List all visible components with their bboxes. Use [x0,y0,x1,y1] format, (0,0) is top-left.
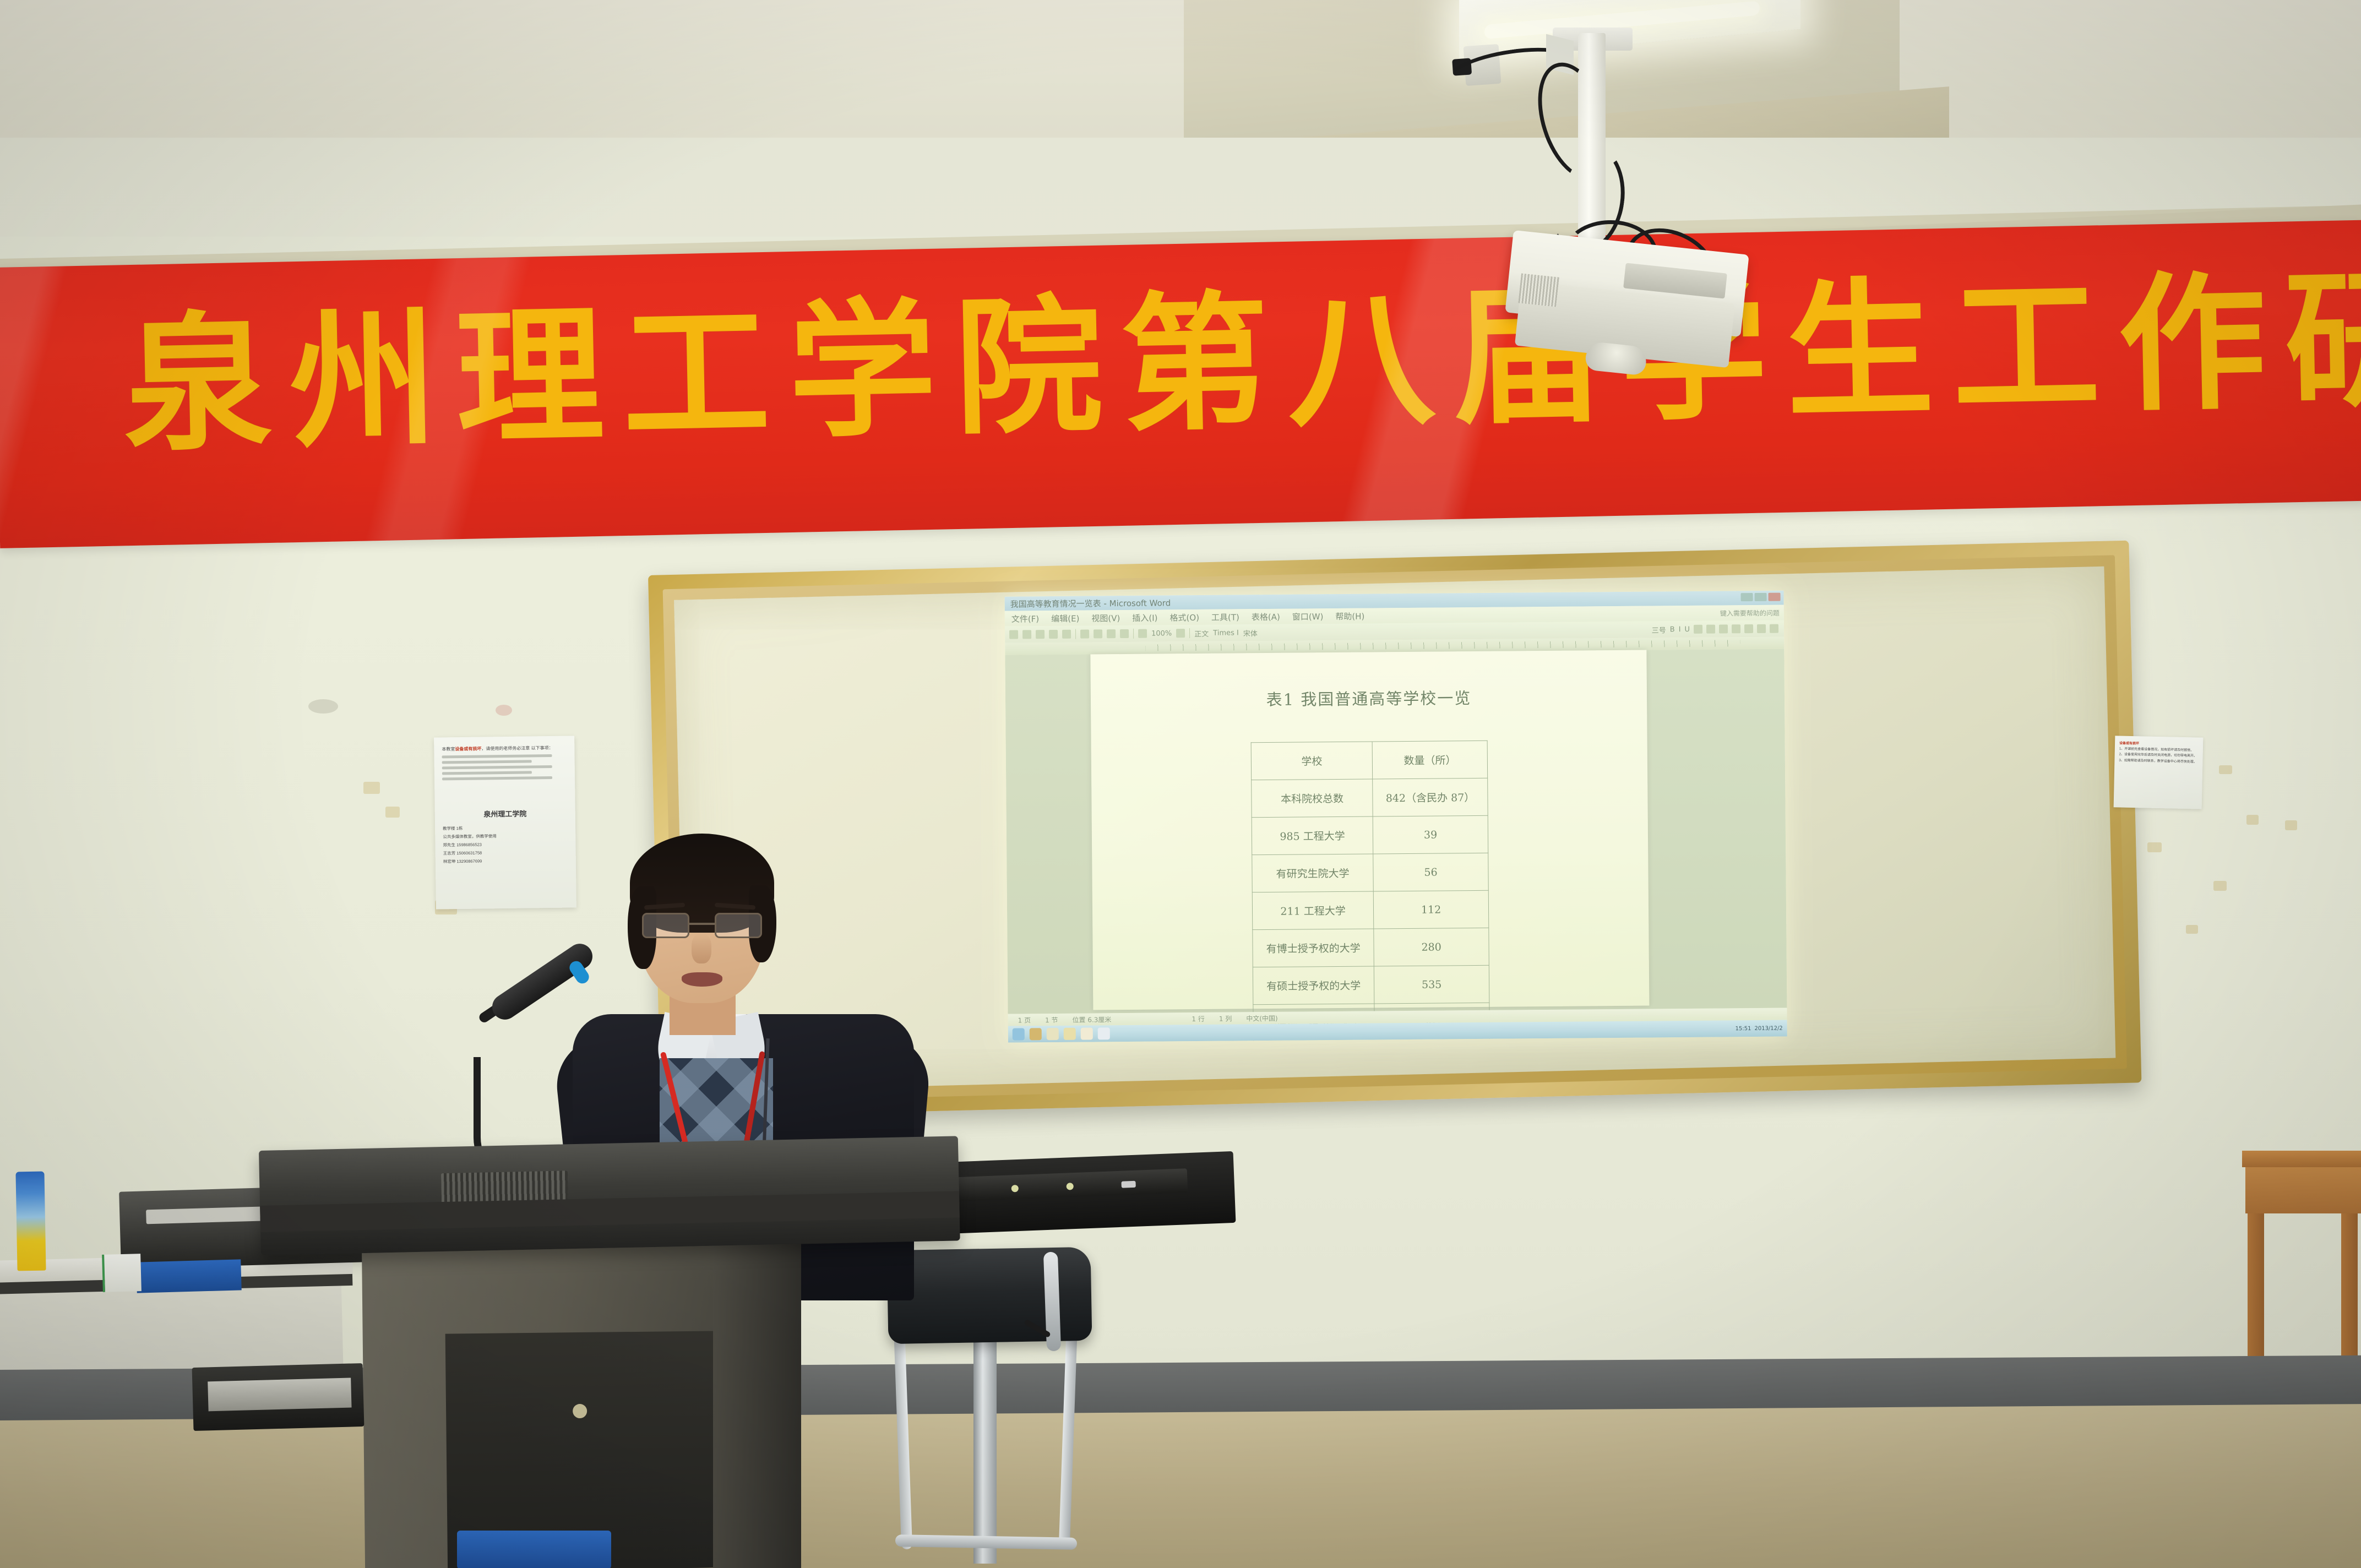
cell-count: 280 [1374,928,1489,966]
paste-icon[interactable] [1120,629,1129,638]
speaker-mouth [682,972,722,987]
speaker-nose [692,934,711,963]
cell-school: 211 工程大学 [1252,891,1374,930]
word-title-text: 我国高等教育情况一览表 - Microsoft Word [1010,597,1171,609]
wall-tape-mark [2213,881,2227,891]
wall-scuff [496,705,512,716]
menu-item-insert[interactable]: 插入(I) [1132,612,1157,623]
cell-count: 39 [1373,815,1488,854]
document-canvas[interactable]: 表1 我国普通高等学校一览 学校 数量（所） 本科院校总数 842（含民办 87… [1005,649,1787,1014]
higher-education-table: 学校 数量（所） 本科院校总数 842（含民办 87） 985 工程大学 39 [1251,741,1490,1043]
poster-text-line [442,765,552,769]
podium-desktop-band [260,1191,960,1232]
cell-school: 有博士授予权的大学 [1253,929,1374,967]
blue-box [136,1259,241,1293]
new-document-icon[interactable] [1009,630,1018,639]
chevron-down-icon[interactable] [1176,629,1185,638]
italic-button[interactable]: I [1679,625,1681,634]
table-row: 有研究生院大学 56 [1252,853,1489,892]
cell-count: 112 [1373,890,1488,929]
spellcheck-icon[interactable] [1080,629,1089,638]
toolbar-separator-3 [1189,628,1190,638]
cut-icon[interactable] [1094,629,1102,638]
menu-item-tools[interactable]: 工具(T) [1211,611,1239,623]
white-box [102,1254,142,1292]
bold-button[interactable]: B [1670,625,1675,634]
menu-item-format[interactable]: 格式(O) [1169,611,1199,623]
wall-tape-mark [2246,815,2259,825]
status-column: 1 列 [1219,1014,1232,1023]
poster-right-highlight: 设备或有损坏 [2119,742,2139,746]
spray-can [15,1172,46,1271]
poster-org-name: 泉州理工学院 [443,808,568,820]
save-icon[interactable] [1036,630,1045,639]
projector-vent [1518,273,1559,307]
podium-desktop[interactable] [259,1136,960,1255]
right-table-top [2242,1151,2361,1167]
poster-notice-right: 设备或有损坏 1、开课前先查看设备情况，如有损坏请及时报修。 2、设备使用完毕后… [2114,736,2204,809]
print-preview-icon[interactable] [1062,630,1071,639]
lecture-room-photo: 泉州理工学院第八届学生工作研讨会 我国高等教育情况一览表 - Microsoft… [0,0,2361,1568]
cell-count: 56 [1373,853,1488,891]
align-center-icon[interactable] [1706,625,1715,634]
highlight-color-icon[interactable] [1757,624,1766,633]
menu-item-view[interactable]: 视图(V) [1091,612,1120,624]
glasses-lens-right [715,913,762,938]
menu-item-table[interactable]: 表格(A) [1252,611,1280,622]
font-cjk-value[interactable]: 宋体 [1243,628,1258,638]
internet-explorer-icon[interactable] [1047,1028,1059,1040]
minimize-icon[interactable] [1741,593,1753,601]
wall-tape-mark [2147,842,2162,852]
poster-heading-suffix: ，请使用的老师务必注意 [481,745,530,751]
poster-heading-prefix: 本教室 [442,747,455,752]
poster-heading-highlight: 设备或有损坏 [455,747,481,752]
taskbar-clock-time: 15:51 [1736,1026,1751,1032]
bullet-list-icon[interactable] [1732,624,1740,633]
font-size-value[interactable]: 三号 [1652,624,1666,635]
undo-icon[interactable] [1138,629,1147,638]
align-left-icon[interactable] [1694,625,1702,634]
cell-count: 842（含民办 87） [1373,778,1488,816]
keyboard-tray[interactable] [208,1378,351,1412]
table-row: 有硕士授予权的大学 535 [1253,965,1489,1004]
start-button-icon[interactable] [1013,1028,1025,1040]
cell-school: 有硕士授予权的大学 [1253,966,1374,1005]
wall-tape-mark [363,782,380,794]
table-row: 本科院校总数 842（含民办 87） [1252,778,1488,817]
numbered-list-icon[interactable] [1744,624,1753,633]
underline-button[interactable]: U [1684,625,1690,633]
status-language: 中文(中国) [1246,1013,1278,1022]
cell-school: 本科院校总数 [1252,779,1373,818]
poster-text-line [442,760,532,764]
menu-item-edit[interactable]: 编辑(E) [1051,612,1079,624]
column-header-count: 数量（所） [1372,741,1487,779]
poster-text-line [442,776,552,780]
menu-item-file[interactable]: 文件(F) [1011,613,1040,624]
podium-side-column [713,1239,801,1568]
taskbar-clock-date: 2013/12/2 [1754,1025,1782,1031]
table-row: 985 工程大学 39 [1252,815,1488,854]
toolbar-right-group[interactable]: 三号 B I U [1652,623,1778,635]
help-search-box[interactable]: 键入需要帮助的问题 [1720,608,1780,618]
poster-heading-line2: 以下事项： [531,745,553,750]
cell-school: 985 工程大学 [1252,816,1373,855]
open-file-icon[interactable] [1022,630,1031,639]
align-right-icon[interactable] [1719,624,1728,633]
close-icon[interactable] [1769,593,1781,601]
poster-text-line [442,771,532,775]
toolbar-separator-2 [1133,629,1134,639]
toolbar-separator-1 [1075,629,1076,639]
word-taskbar-icon[interactable] [1098,1027,1110,1039]
style-name-value[interactable]: 正文 [1194,628,1209,638]
maximize-icon[interactable] [1755,593,1767,601]
zoom-level-value[interactable]: 100% [1151,629,1172,638]
font-color-icon[interactable] [1770,624,1778,633]
media-player-icon[interactable] [1030,1028,1042,1040]
equipment-slot [146,1207,262,1224]
glasses-lens-left [642,913,689,938]
print-icon[interactable] [1049,630,1058,639]
podium-led-strip [1121,1181,1135,1188]
font-name-value[interactable]: Times I [1213,629,1239,637]
stool-center-post [973,1332,997,1564]
window-controls[interactable] [1741,593,1781,602]
event-banner: 泉州理工学院第八届学生工作研讨会 [0,220,2361,548]
wall-tape-mark [2219,765,2232,774]
status-page: 1 页 [1018,1015,1031,1025]
wall-tape-mark [2285,820,2297,830]
glasses-bridge [689,923,715,925]
system-tray[interactable]: 15:51 2013/12/2 [1736,1025,1783,1032]
wall-tape-mark [385,807,400,818]
podium-lock-knob[interactable] [573,1404,587,1418]
podium-blue-object [457,1531,611,1568]
right-table-apron [2245,1166,2361,1213]
document-page[interactable]: 表1 我国普通高等学校一览 学校 数量（所） 本科院校总数 842（含民办 87… [1090,650,1649,1010]
explorer-icon[interactable] [1064,1028,1076,1040]
status-position: 位置 6.3厘米 [1072,1015,1111,1025]
status-section: 1 节 [1045,1015,1058,1024]
column-header-school: 学校 [1251,742,1373,780]
poster-text-line [442,754,552,758]
cell-school: 有研究生院大学 [1252,854,1374,892]
app-icon[interactable] [1081,1027,1093,1039]
table-header-row: 学校 数量（所） [1251,741,1488,780]
status-line: 1 行 [1192,1014,1205,1023]
podium-keyboard-drawer[interactable] [192,1363,365,1431]
table-caption: 表1 我国普通高等学校一览 [1091,684,1647,712]
banner-title: 泉州理工学院第八届学生工作研讨会 [122,241,2328,488]
cell-count: 535 [1374,965,1489,1004]
wall-scuff [308,699,338,714]
projected-screen: 我国高等教育情况一览表 - Microsoft Word 文件(F) 编辑(E)… [1005,591,1787,1043]
menu-item-help[interactable]: 帮助(H) [1335,610,1364,622]
wall-tape-mark [2186,925,2198,934]
poster-heading: 本教室设备或有损坏，请使用的老师务必注意 以下事项： [442,745,567,753]
floor [0,1404,2361,1568]
copy-icon[interactable] [1107,629,1116,638]
menu-item-window[interactable]: 窗口(W) [1292,611,1324,622]
table-row: 有博士授予权的大学 280 [1253,928,1489,967]
table-row: 211 工程大学 112 [1252,890,1489,929]
